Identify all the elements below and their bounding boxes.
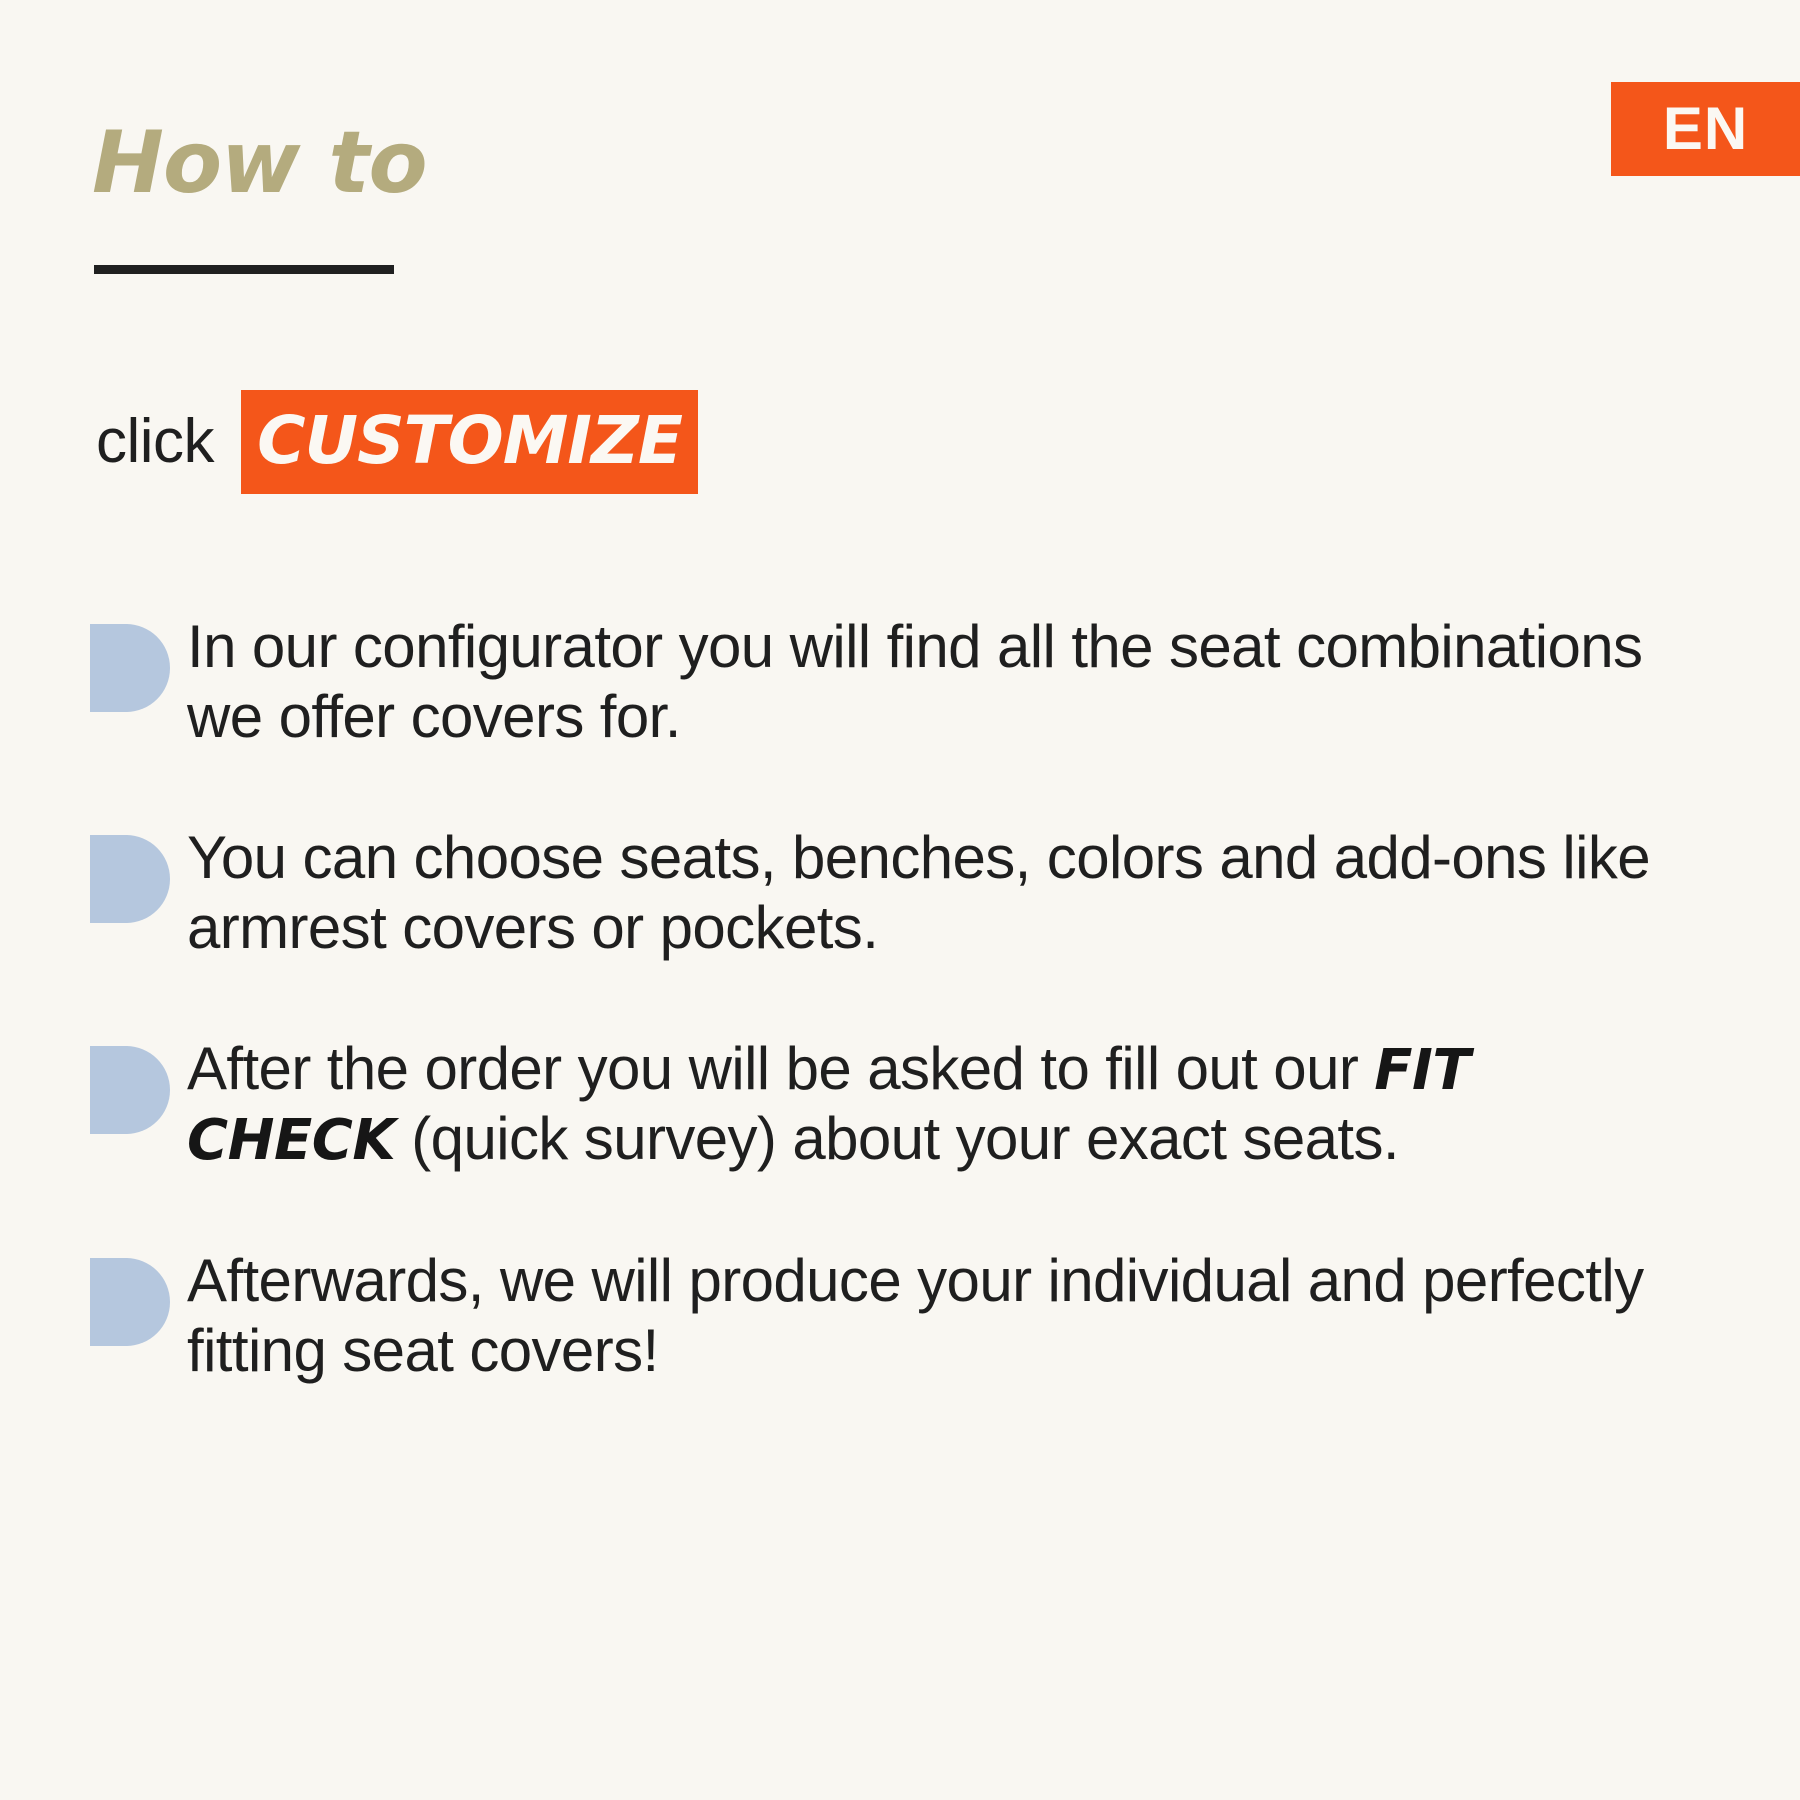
cta-prefix-label: click [96,411,214,473]
d-shape-bullet-icon [90,624,170,712]
customize-button[interactable]: CUSTOMIZE [241,390,698,494]
language-badge[interactable]: EN [1611,82,1800,176]
language-badge-label: EN [1663,99,1748,159]
list-item-text: Afterwards, we will produce your individ… [187,1246,1657,1385]
list-item: You can choose seats, benches, colors an… [90,823,1750,962]
list-item-text-part: You can choose seats, benches, colors an… [187,824,1650,961]
d-shape-bullet-icon [90,1046,170,1134]
list-item-text: You can choose seats, benches, colors an… [187,823,1657,962]
instruction-list: In our configurator you will find all th… [90,612,1750,1385]
list-item: In our configurator you will find all th… [90,612,1750,751]
d-shape-bullet-icon [90,835,170,923]
d-shape-bullet-icon [90,1258,170,1346]
list-item: Afterwards, we will produce your individ… [90,1246,1750,1385]
list-item-text-part: After the order you will be asked to fil… [187,1035,1374,1102]
list-item-text: In our configurator you will find all th… [187,612,1657,751]
how-to-card: EN How to click CUSTOMIZE In our configu… [0,0,1800,1800]
heading-block: How to [92,118,427,208]
list-item: After the order you will be asked to fil… [90,1034,1750,1174]
list-item-text: After the order you will be asked to fil… [187,1034,1657,1174]
list-item-text-part: (quick survey) about your exact seats. [395,1105,1399,1172]
cta-line: click CUSTOMIZE [96,390,698,494]
page-title: How to [92,118,427,208]
heading-underline-rule [94,265,394,274]
